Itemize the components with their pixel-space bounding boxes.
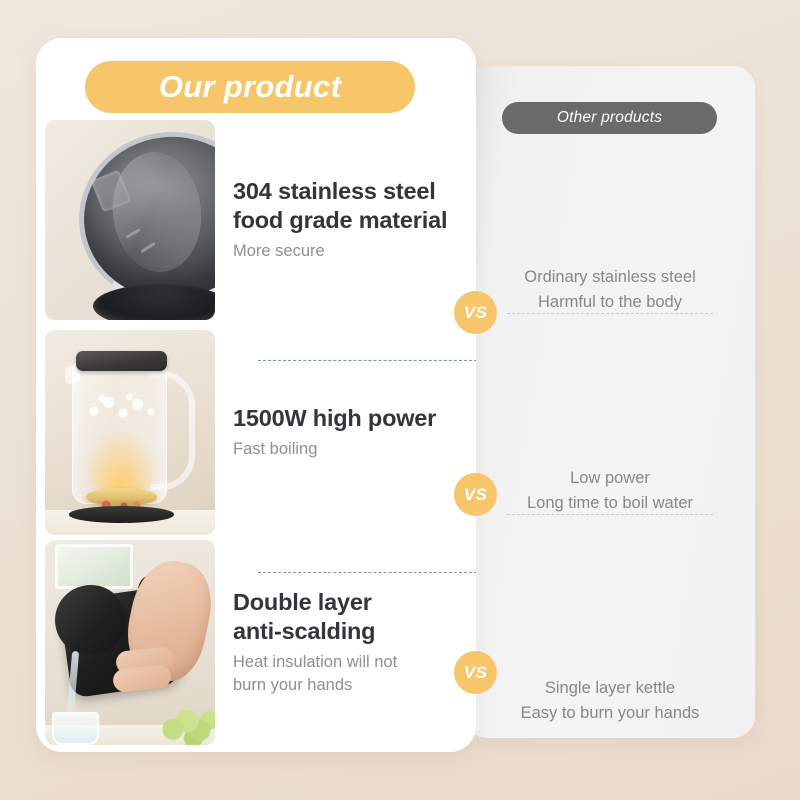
feature-row-stainless-steel: 304 stainless steel food grade material … [45,120,476,320]
other-products-divider-2 [507,514,713,515]
vs-badge-1: VS [454,291,497,334]
other-products-divider-1 [507,313,713,314]
feature-title: 1500W high power [233,404,476,433]
other-products-panel: Other products Ordinary stainless steel … [465,66,755,738]
kettle-base-shape [69,506,174,522]
drinking-glass [52,712,100,745]
feature-text-block: Double layer anti-scalding Heat insulati… [215,588,476,697]
boiling-bubbles [81,392,163,425]
feature-subtitle: More secure [233,240,476,263]
kettle-lid-shape [76,351,168,372]
feature-text-block: 304 stainless steel food grade material … [215,177,476,263]
feature-row-high-power: 1500W high power Fast boiling [45,330,476,535]
other-products-badge: Other products [502,102,717,134]
feature-title: 304 stainless steel food grade material [233,177,476,235]
other-products-row-3: Single layer kettle Easy to burn your ha… [465,676,755,726]
finger-shape [112,664,172,692]
stainless-steel-pot-image [45,120,215,320]
feature-subtitle: Fast boiling [233,438,476,461]
glass-kettle-image [45,330,215,535]
our-product-badge: Our product [85,61,415,113]
vs-badge-3: VS [454,651,497,694]
feature-text-block: 1500W high power Fast boiling [215,404,476,461]
other-products-row-2: Low power Long time to boil water [465,466,755,516]
black-kettle-pouring-image [45,540,215,745]
pot-base-shape [93,284,215,320]
vs-badge-2: VS [454,473,497,516]
feature-subtitle: Heat insulation will not burn your hands [233,651,476,697]
our-product-card: Our product 304 stainless steel food gra… [36,38,476,752]
feature-title: Double layer anti-scalding [233,588,476,646]
other-products-row-1: Ordinary stainless steel Harmful to the … [465,265,755,315]
feature-row-anti-scalding: Double layer anti-scalding Heat insulati… [45,540,476,745]
window-background [55,544,133,589]
green-grapes [161,710,215,745]
